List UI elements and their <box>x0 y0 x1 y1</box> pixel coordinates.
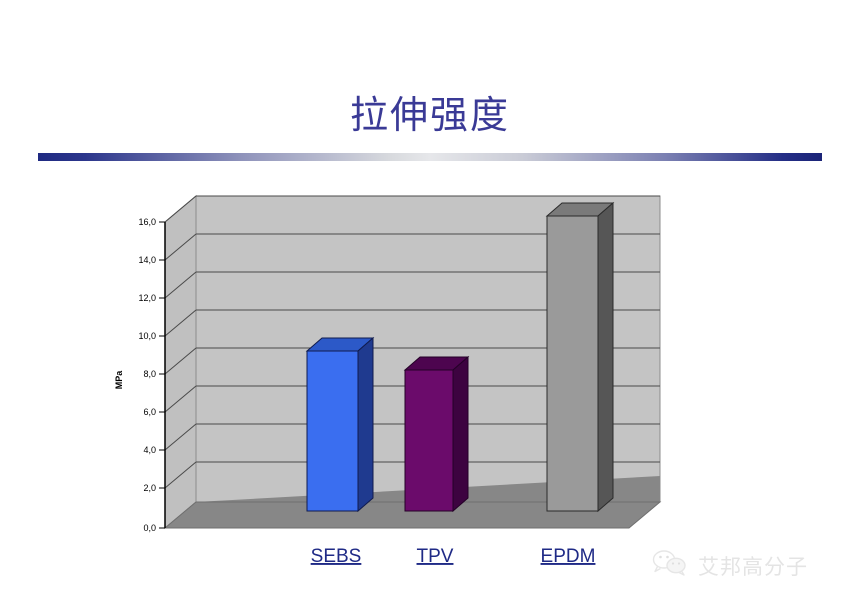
bar-epdm-side <box>598 203 613 511</box>
y-tick-label-2: 2,0 <box>143 483 156 493</box>
wechat-icon <box>650 548 690 583</box>
chart-left-wall <box>165 196 196 528</box>
y-tick-label-6: 6,0 <box>143 407 156 417</box>
category-label-tpv[interactable]: TPV <box>417 546 454 567</box>
bar-tpv-side <box>453 357 468 511</box>
tensile-strength-chart: 16,0 14,0 12,0 10,0 8,0 6,0 4,0 2,0 0,0 … <box>100 185 700 575</box>
y-tick-label-14: 14,0 <box>138 255 156 265</box>
bar-epdm-front <box>547 216 598 511</box>
chart-svg: 16,0 14,0 12,0 10,0 8,0 6,0 4,0 2,0 0,0 … <box>100 185 700 575</box>
bar-epdm[interactable] <box>547 203 613 511</box>
category-label-sebs[interactable]: SEBS <box>311 546 362 567</box>
bar-sebs-side <box>358 338 373 511</box>
y-tick-label-8: 8,0 <box>143 369 156 379</box>
y-tick-label-12: 12,0 <box>138 293 156 303</box>
y-tick-label-4: 4,0 <box>143 445 156 455</box>
watermark-text: 艾邦高分子 <box>698 551 808 581</box>
y-tick-label-16: 16,0 <box>138 217 156 227</box>
page-title: 拉伸强度 <box>0 92 860 138</box>
y-tick-label-10: 10,0 <box>138 331 156 341</box>
watermark: 艾邦高分子 <box>650 548 808 583</box>
bar-tpv-front <box>405 370 453 511</box>
bar-tpv[interactable] <box>405 357 468 511</box>
title-divider <box>38 153 822 161</box>
y-tick-label-0: 0,0 <box>143 523 156 533</box>
category-label-epdm[interactable]: EPDM <box>541 546 596 567</box>
y-axis-ticks <box>159 222 165 528</box>
bar-sebs-front <box>307 351 358 511</box>
y-axis-title: MPa <box>114 370 124 390</box>
bar-sebs[interactable] <box>307 338 373 511</box>
